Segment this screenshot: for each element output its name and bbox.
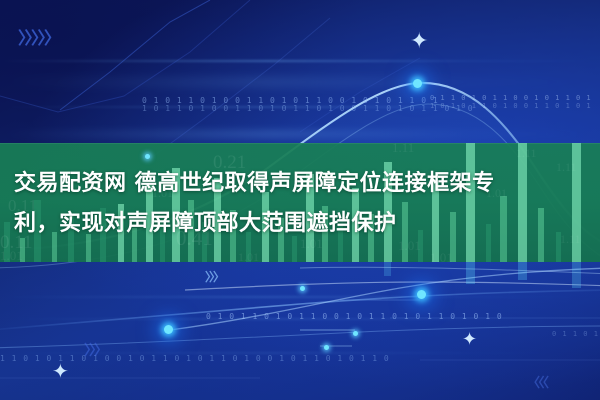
chevron-arrows-icon: 〉〉〉〉〉 (18, 24, 59, 49)
chevron-arrows-icon: 〈〈〈 (527, 372, 547, 391)
banner-image: 0 1 0 1 1 0 1 0 0 1 1 0 1 0 1 1 0 0 1 0 … (0, 0, 600, 400)
headline-line-2: 利，实现对声屏障顶部大范围遮挡保护 (0, 204, 600, 244)
headline: 交易配资网 德高世纪取得声屏障定位连接框架专 利，实现对声屏障顶部大范围遮挡保护 (0, 164, 600, 244)
glow-node-icon (353, 331, 358, 336)
sparkle-icon: ✦ (462, 330, 477, 348)
chevron-arrows-icon: 〉〉〉 (84, 340, 106, 360)
chevron-arrows-icon: 〉〉〉 (205, 268, 223, 285)
sparkle-icon: ✦ (410, 30, 428, 52)
glow-node-icon (417, 290, 426, 299)
headline-line-1: 交易配资网 德高世纪取得声屏障定位连接框架专 (0, 164, 600, 204)
glow-node-icon (324, 345, 329, 350)
sparkle-icon: ✦ (52, 362, 69, 382)
glow-node-icon (413, 79, 422, 88)
glow-node-icon (164, 325, 173, 334)
glow-node-icon (300, 286, 305, 291)
glow-node-icon (145, 154, 150, 159)
